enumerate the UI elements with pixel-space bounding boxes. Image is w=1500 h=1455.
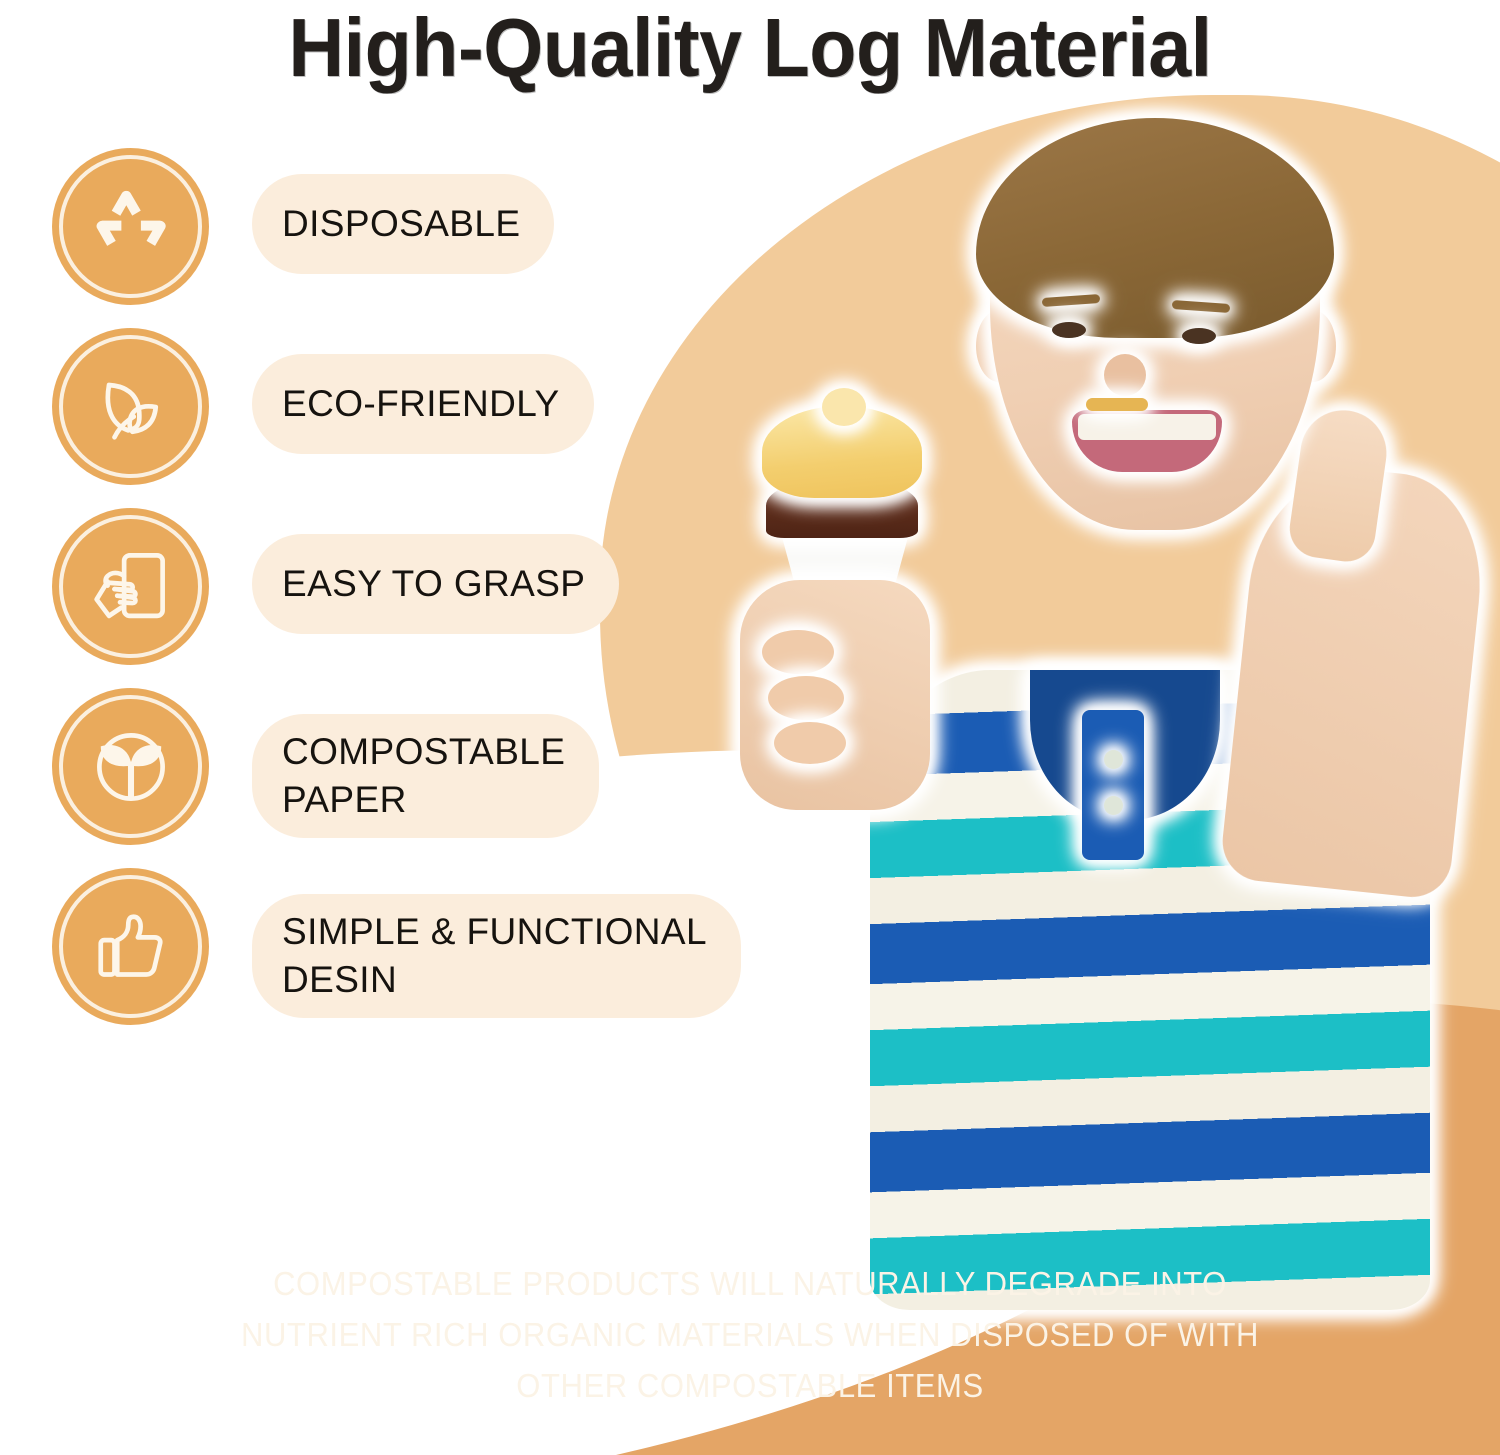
feature-label: COMPOSTABLE PAPER — [282, 728, 565, 824]
feature-icon-badge — [52, 688, 209, 845]
footer-line-3: OTHER COMPOSTABLE ITEMS — [45, 1360, 1455, 1411]
hand-holding-card-icon — [87, 543, 175, 631]
feature-item-disposable: DISPOSABLE — [52, 148, 752, 328]
shirt-button — [1104, 750, 1123, 769]
ice-cream-smudge — [1086, 398, 1148, 411]
sprout-circle-icon — [87, 723, 175, 811]
feature-label: SIMPLE & FUNCTIONAL DESIN — [282, 908, 707, 1004]
footer-line-2: NUTRIENT RICH ORGANIC MATERIALS WHEN DIS… — [45, 1309, 1455, 1360]
feature-item-compostable-paper: COMPOSTABLE PAPER — [52, 688, 752, 868]
feature-icon-badge — [52, 868, 209, 1025]
feature-label: DISPOSABLE — [282, 200, 520, 248]
thumbs-up-icon — [87, 903, 175, 991]
page-title: High-Quality Log Material — [53, 2, 1448, 94]
feature-item-eco-friendly: ECO-FRIENDLY — [52, 328, 752, 508]
footer-line-1: COMPOSTABLE PRODUCTS WILL NATURALLY DEGR… — [45, 1258, 1455, 1309]
feature-icon-badge — [52, 508, 209, 665]
feature-list: DISPOSABLE ECO-FRIENDLY E — [52, 148, 752, 1048]
feature-label-pill: SIMPLE & FUNCTIONAL DESIN — [252, 894, 741, 1018]
teeth — [1078, 414, 1216, 440]
finger — [768, 676, 844, 720]
feature-label-pill: ECO-FRIENDLY — [252, 354, 594, 454]
eye-left — [1052, 322, 1086, 338]
feature-label-pill: COMPOSTABLE PAPER — [252, 714, 599, 838]
nose — [1104, 354, 1146, 396]
eye-right — [1182, 328, 1216, 344]
feature-item-simple-functional-design: SIMPLE & FUNCTIONAL DESIN — [52, 868, 752, 1048]
feature-item-easy-to-grasp: EASY TO GRASP — [52, 508, 752, 688]
leaves-icon — [87, 363, 175, 451]
footer-caption: COMPOSTABLE PRODUCTS WILL NATURALLY DEGR… — [45, 1258, 1455, 1411]
feature-label-pill: DISPOSABLE — [252, 174, 554, 274]
feature-icon-badge — [52, 328, 209, 485]
feature-label-pill: EASY TO GRASP — [252, 534, 619, 634]
ice-cream-swirl-tip — [822, 388, 866, 426]
boy-hair — [976, 118, 1334, 338]
finger — [762, 630, 834, 674]
recycle-icon — [87, 183, 175, 271]
finger — [774, 722, 846, 764]
product-photo — [700, 110, 1500, 1290]
shirt-placket — [1082, 710, 1144, 860]
feature-icon-badge — [52, 148, 209, 305]
feature-label: EASY TO GRASP — [282, 560, 585, 608]
feature-label: ECO-FRIENDLY — [282, 380, 560, 428]
smiling-mouth — [1072, 410, 1222, 472]
shirt-button — [1104, 796, 1123, 815]
